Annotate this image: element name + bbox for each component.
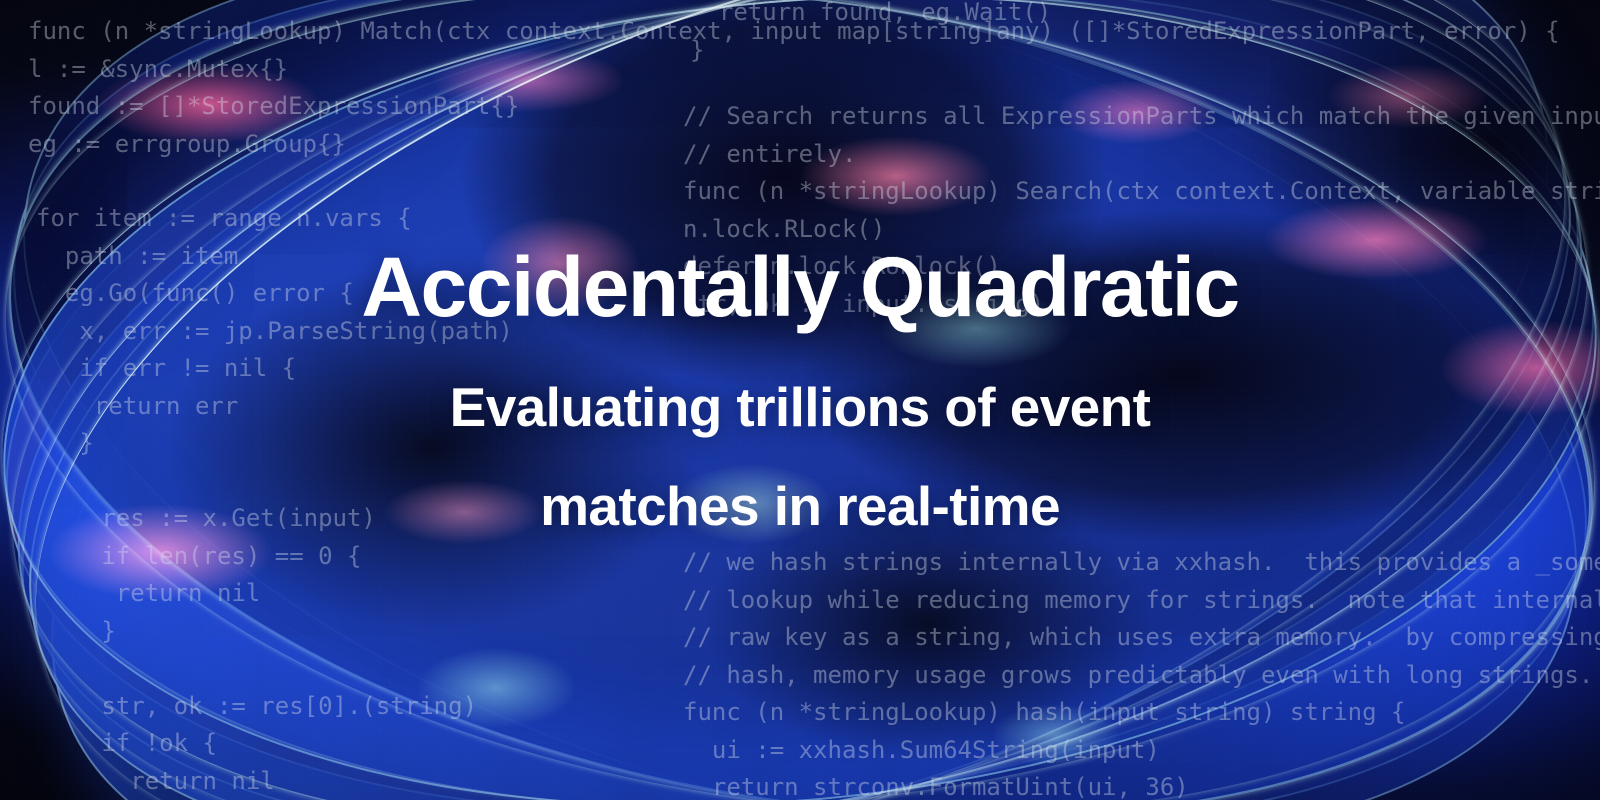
hero-banner: func (n *stringLookup) Match(ctx context… (0, 0, 1600, 800)
background-vignette (0, 0, 1600, 800)
abstract-glass-background (0, 0, 1600, 800)
